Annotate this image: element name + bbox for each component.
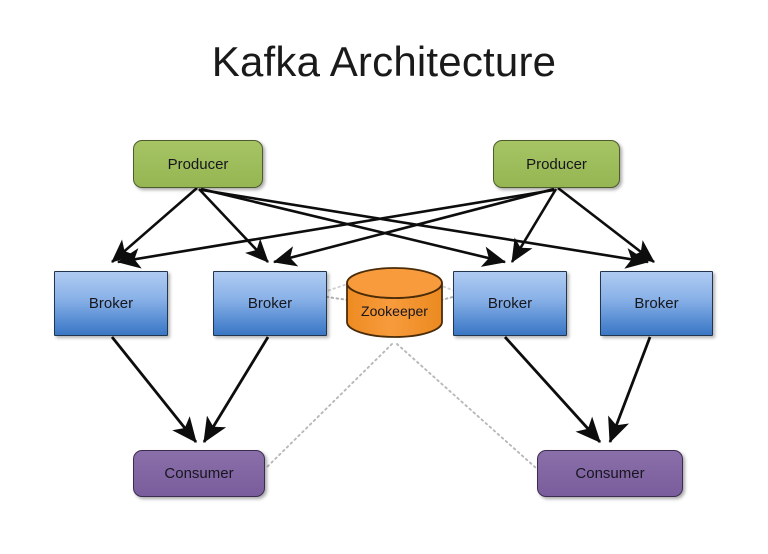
edge-producer-2-to-broker-3 xyxy=(512,189,556,262)
node-label: Broker xyxy=(248,296,292,311)
node-label: Consumer xyxy=(575,466,644,481)
edge-zookeeper-to-broker-2 xyxy=(327,297,348,300)
node-label: Producer xyxy=(526,157,587,172)
edge-producer-1-to-broker-4 xyxy=(202,190,648,262)
node-consumer-1[interactable]: Consumer xyxy=(133,450,265,497)
edge-zookeeper-to-consumer-1 xyxy=(266,344,392,468)
node-broker-4[interactable]: Broker xyxy=(600,271,713,336)
edge-producer-1-to-broker-3 xyxy=(201,189,505,262)
zookeeper-cylinder[interactable] xyxy=(347,268,442,337)
node-broker-3[interactable]: Broker xyxy=(453,271,567,336)
edge-broker-4-to-consumer-2 xyxy=(610,337,650,442)
diagram-canvas: Kafka Architecture xyxy=(0,0,768,554)
node-label: Broker xyxy=(634,296,678,311)
node-broker-1[interactable]: Broker xyxy=(54,271,168,336)
node-broker-2[interactable]: Broker xyxy=(213,271,327,336)
node-label: Broker xyxy=(89,296,133,311)
node-label: Producer xyxy=(168,157,229,172)
edge-broker-3-to-consumer-2 xyxy=(505,337,600,442)
node-producer-1[interactable]: Producer xyxy=(133,140,263,188)
edge-broker-1-to-consumer-1 xyxy=(112,337,196,442)
edge-broker-2-to-consumer-1 xyxy=(204,337,268,442)
node-producer-2[interactable]: Producer xyxy=(493,140,620,188)
node-label: Broker xyxy=(488,296,532,311)
edge-zookeeper-to-consumer-2 xyxy=(397,344,536,468)
node-consumer-2[interactable]: Consumer xyxy=(537,450,683,497)
node-label: Consumer xyxy=(164,466,233,481)
edge-producer-2-to-broker-2 xyxy=(274,189,554,262)
